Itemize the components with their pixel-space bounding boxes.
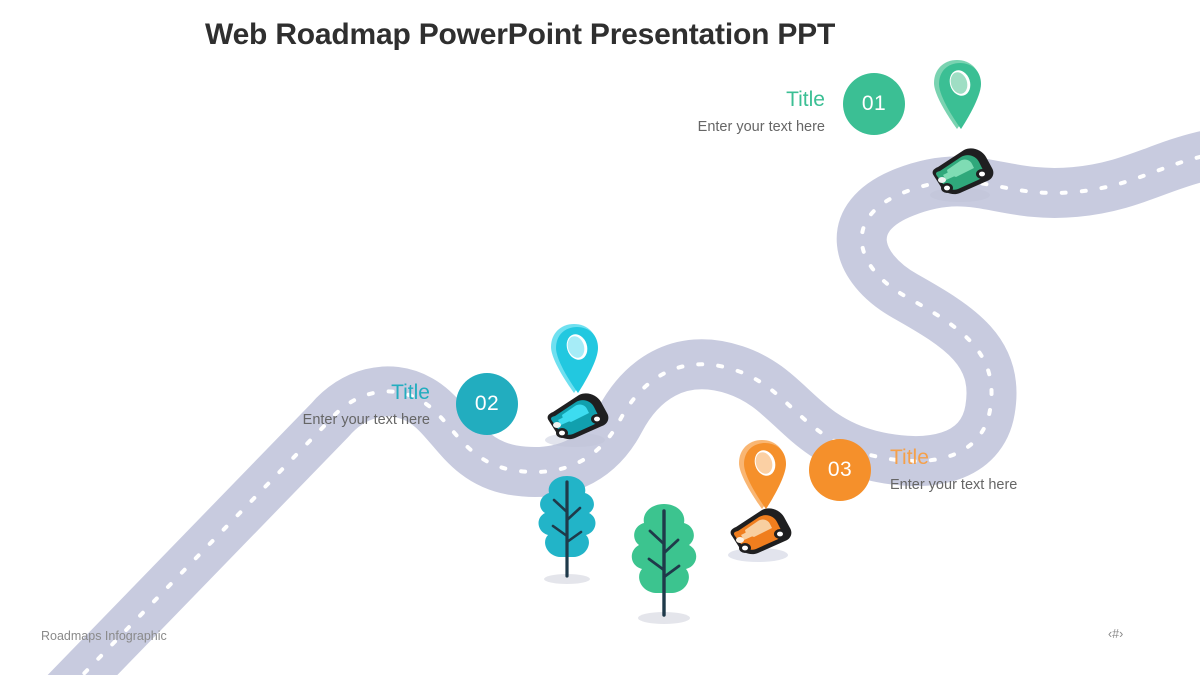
car-icon <box>920 143 998 205</box>
step-03-number: 03 <box>828 458 852 482</box>
step-01-badge[interactable]: 01 <box>843 73 905 135</box>
step-01-title: Title <box>600 88 825 111</box>
map-pin-icon <box>928 58 986 130</box>
map-pin-icon <box>545 322 603 394</box>
step-02-text-block: Title Enter your text here <box>205 381 430 429</box>
tree-teal-icon <box>521 472 613 587</box>
tree-green-icon <box>612 500 716 626</box>
step-01-description: Enter your text here <box>600 120 825 136</box>
footer-page-number[interactable]: ‹#› <box>1108 627 1123 641</box>
step-02-badge[interactable]: 02 <box>456 373 518 435</box>
step-03-title: Title <box>890 446 1130 469</box>
step-02-description: Enter your text here <box>205 413 430 429</box>
map-pin-icon <box>733 438 791 510</box>
page-title: Web Roadmap PowerPoint Presentation PPT <box>205 18 835 52</box>
step-01-text-block: Title Enter your text here <box>600 88 825 136</box>
car-icon <box>535 388 613 450</box>
step-02-title: Title <box>205 381 430 404</box>
step-03-text-block: Title Enter your text here <box>890 446 1130 494</box>
step-01-number: 01 <box>862 92 886 116</box>
slide-canvas: Web Roadmap PowerPoint Presentation PPT … <box>0 0 1200 675</box>
footer-label: Roadmaps Infographic <box>41 629 167 643</box>
step-03-description: Enter your text here <box>890 478 1130 494</box>
step-03-badge[interactable]: 03 <box>809 439 871 501</box>
car-icon <box>718 503 796 565</box>
step-02-number: 02 <box>475 392 499 416</box>
